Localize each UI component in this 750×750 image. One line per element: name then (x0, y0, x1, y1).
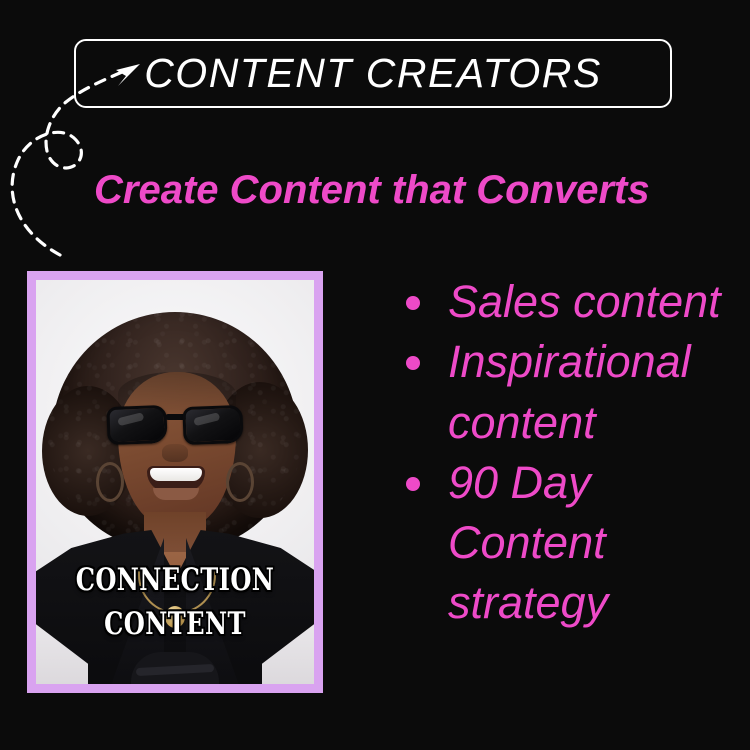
bullet-dot-icon (406, 356, 420, 370)
list-item: Sales content (398, 272, 738, 332)
photo-caption-line-2: CONTENT (67, 602, 284, 646)
headline-text: Create Content that Converts (94, 168, 650, 213)
nose-shape (162, 444, 188, 462)
list-item: Inspirational content (398, 332, 738, 453)
lower-lip-shape (153, 488, 199, 500)
sunglass-lens-right (182, 405, 243, 445)
photo-image: CONNECTION CONTENT (36, 280, 314, 684)
sunglass-lens-left (106, 405, 167, 445)
title-banner: CONTENT CREATORS (74, 39, 672, 108)
page-title: CONTENT CREATORS (144, 50, 602, 97)
photo-caption: CONNECTION CONTENT (67, 558, 284, 646)
promo-graphic-canvas: CONTENT CREATORS Create Content that Con… (0, 0, 750, 750)
bullet-dot-icon (406, 296, 420, 310)
list-item-label: Inspirational content (448, 336, 691, 447)
list-item-label: 90 Day Content strategy (448, 457, 608, 629)
list-item-label: Sales content (448, 276, 721, 327)
photo-caption-line-1: CONNECTION (67, 558, 284, 602)
teeth-shape (150, 468, 202, 481)
photo-card: CONNECTION CONTENT (27, 271, 323, 693)
sunglasses-icon (107, 406, 243, 446)
feature-list: Sales content Inspirational content 90 D… (398, 272, 738, 634)
bullet-dot-icon (406, 477, 420, 491)
hoop-earring-right (226, 462, 254, 502)
list-item: 90 Day Content strategy (398, 453, 738, 634)
hoop-earring-left (96, 462, 124, 502)
